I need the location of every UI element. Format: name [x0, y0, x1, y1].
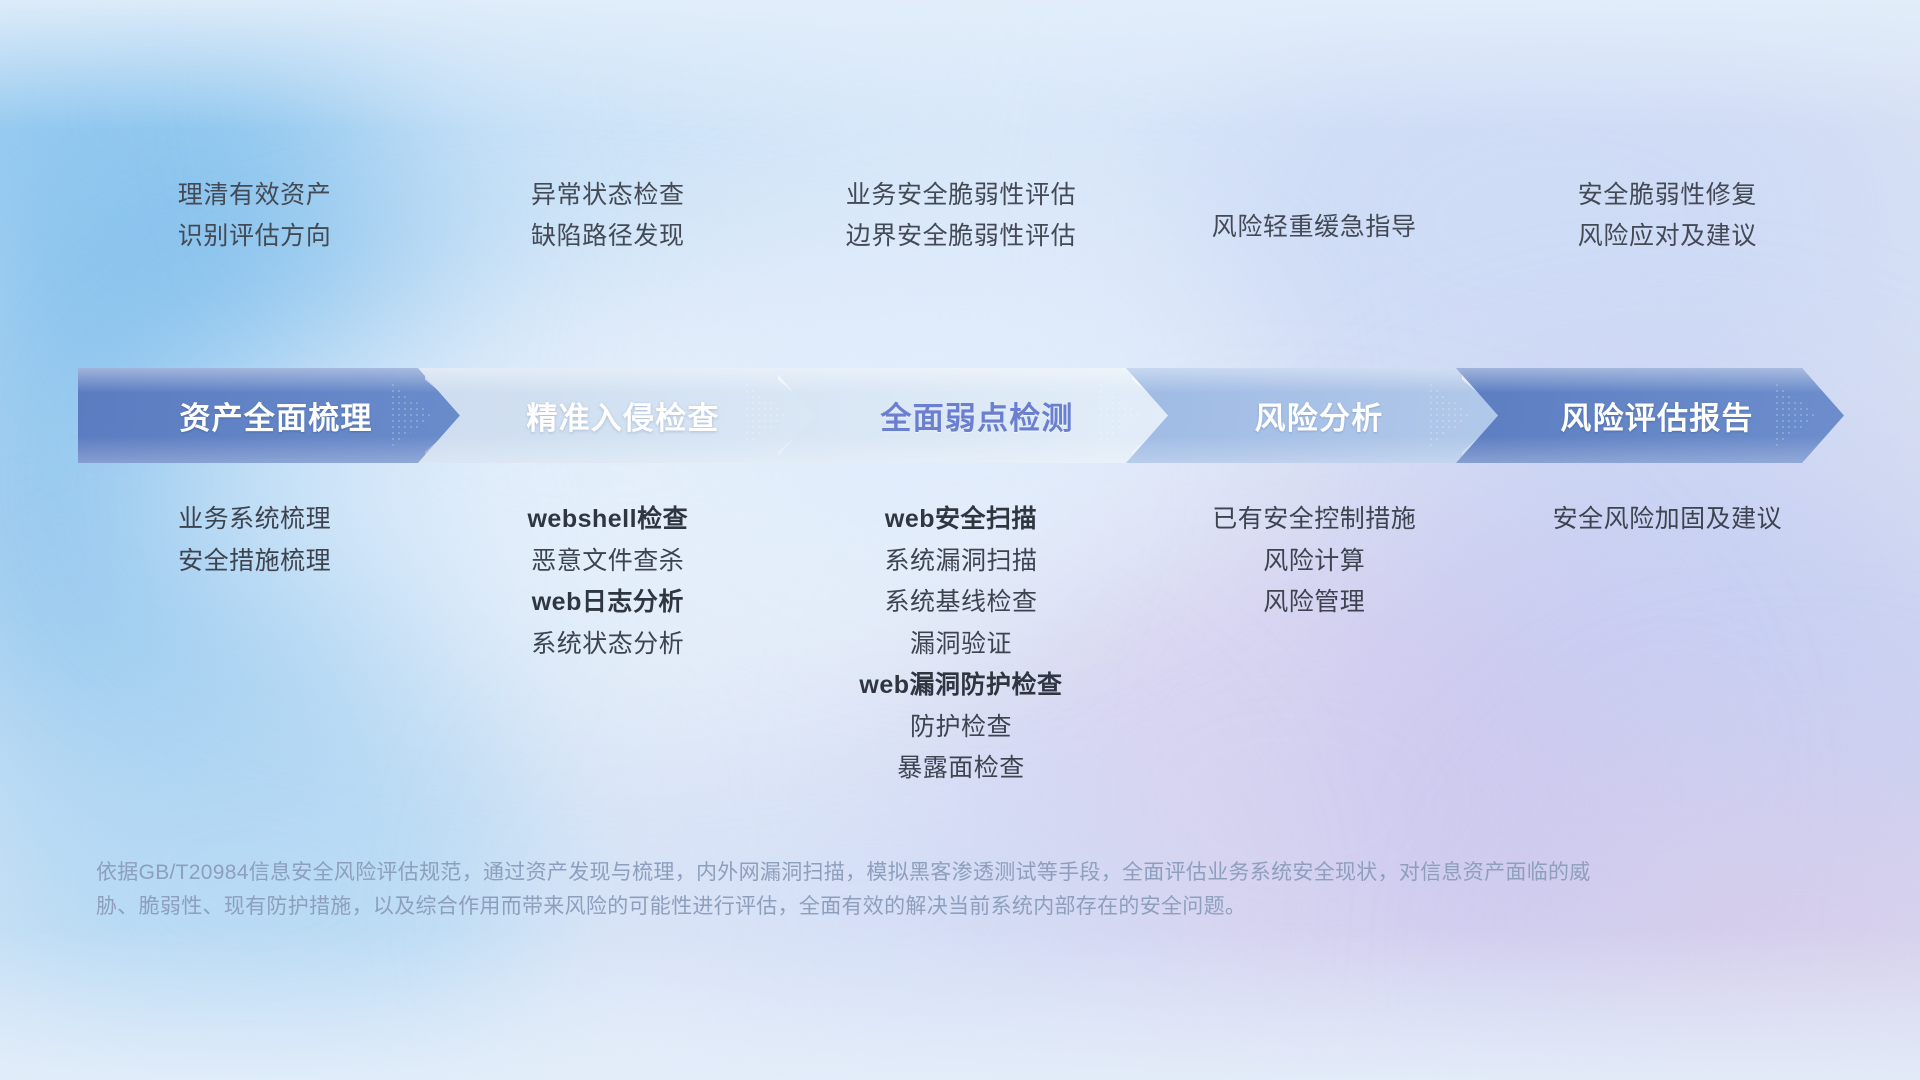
stage-title: 风险评估报告 — [1456, 393, 1844, 438]
lower-label: 系统基线检查 — [884, 589, 1037, 617]
stage-arrow-weakness-detection[interactable]: 全面弱点检测 — [772, 368, 1168, 463]
footer-paragraph: 依据GB/T20984信息安全风险评估规范，通过资产发现与梳理，内外网漏洞扫描，… — [96, 856, 1616, 924]
lower-column-5: 安全风险加固及建议 — [1491, 506, 1844, 534]
stage-title: 资产全面梳理 — [78, 393, 460, 438]
stage-arrow-risk-analysis[interactable]: 风险分析 — [1126, 368, 1498, 463]
lower-label: 风险管理 — [1263, 589, 1365, 617]
lower-label: 系统状态分析 — [531, 631, 684, 659]
upper-label: 缺陷路径发现 — [531, 223, 685, 251]
upper-column-3: 业务安全脆弱性评估 边界安全脆弱性评估 — [784, 182, 1137, 250]
upper-label: 风险应对及建议 — [1578, 223, 1757, 251]
lower-label: web安全扫描 — [885, 506, 1037, 534]
lower-column-4: 已有安全控制措施 风险计算 风险管理 — [1138, 506, 1491, 617]
lower-label: 业务系统梳理 — [178, 506, 331, 534]
upper-label: 业务安全脆弱性评估 — [846, 182, 1076, 210]
stage-title: 全面弱点检测 — [772, 393, 1168, 438]
lower-label: 已有安全控制措施 — [1212, 506, 1416, 534]
footer-description: 依据GB/T20984信息安全风险评估规范，通过资产发现与梳理，内外网漏洞扫描，… — [96, 856, 1616, 924]
lower-label-row: 业务系统梳理 安全措施梳理 webshell检查 恶意文件查杀 web日志分析 … — [78, 506, 1844, 783]
upper-label: 边界安全脆弱性评估 — [846, 223, 1076, 251]
lower-column-2: webshell检查 恶意文件查杀 web日志分析 系统状态分析 — [431, 506, 784, 658]
stage-title: 精准入侵检查 — [418, 393, 814, 438]
upper-label: 识别评估方向 — [178, 223, 332, 251]
lower-column-3: web安全扫描 系统漏洞扫描 系统基线检查 漏洞验证 web漏洞防护检查 防护检… — [784, 506, 1137, 783]
stage-title: 风险分析 — [1126, 393, 1498, 438]
upper-column-2: 异常状态检查 缺陷路径发现 — [431, 182, 784, 250]
lower-label: 防护检查 — [910, 714, 1012, 742]
upper-column-5: 安全脆弱性修复 风险应对及建议 — [1491, 182, 1844, 250]
upper-column-4: 风险轻重缓急指导 — [1138, 182, 1491, 242]
lower-label: 风险计算 — [1263, 548, 1365, 576]
stage-arrow-banner: 资产全面梳理 精准入侵检查 全面弱点检测 风险分析 风险 — [78, 368, 1844, 463]
lower-label: 恶意文件查杀 — [531, 548, 684, 576]
upper-label: 安全脆弱性修复 — [1578, 182, 1757, 210]
upper-label: 异常状态检查 — [531, 182, 685, 210]
upper-label: 风险轻重缓急指导 — [1212, 214, 1417, 242]
process-diagram: 理清有效资产 识别评估方向 异常状态检查 缺陷路径发现 业务安全脆弱性评估 边界… — [0, 0, 1920, 1080]
lower-label: 漏洞验证 — [910, 631, 1012, 659]
lower-label: web日志分析 — [532, 589, 684, 617]
upper-column-1: 理清有效资产 识别评估方向 — [78, 182, 431, 250]
lower-label: 安全风险加固及建议 — [1553, 506, 1783, 534]
stage-arrow-intrusion-check[interactable]: 精准入侵检查 — [418, 368, 814, 463]
lower-label: 安全措施梳理 — [178, 548, 331, 576]
lower-label: web漏洞防护检查 — [859, 672, 1062, 700]
stage-arrow-asset-inventory[interactable]: 资产全面梳理 — [78, 368, 460, 463]
upper-label-row: 理清有效资产 识别评估方向 异常状态检查 缺陷路径发现 业务安全脆弱性评估 边界… — [78, 182, 1844, 250]
lower-label: 暴露面检查 — [897, 755, 1025, 783]
upper-label: 理清有效资产 — [178, 182, 332, 210]
lower-label: webshell检查 — [527, 506, 688, 534]
lower-column-1: 业务系统梳理 安全措施梳理 — [78, 506, 431, 575]
stage-arrow-assessment-report[interactable]: 风险评估报告 — [1456, 368, 1844, 463]
lower-label: 系统漏洞扫描 — [884, 548, 1037, 576]
